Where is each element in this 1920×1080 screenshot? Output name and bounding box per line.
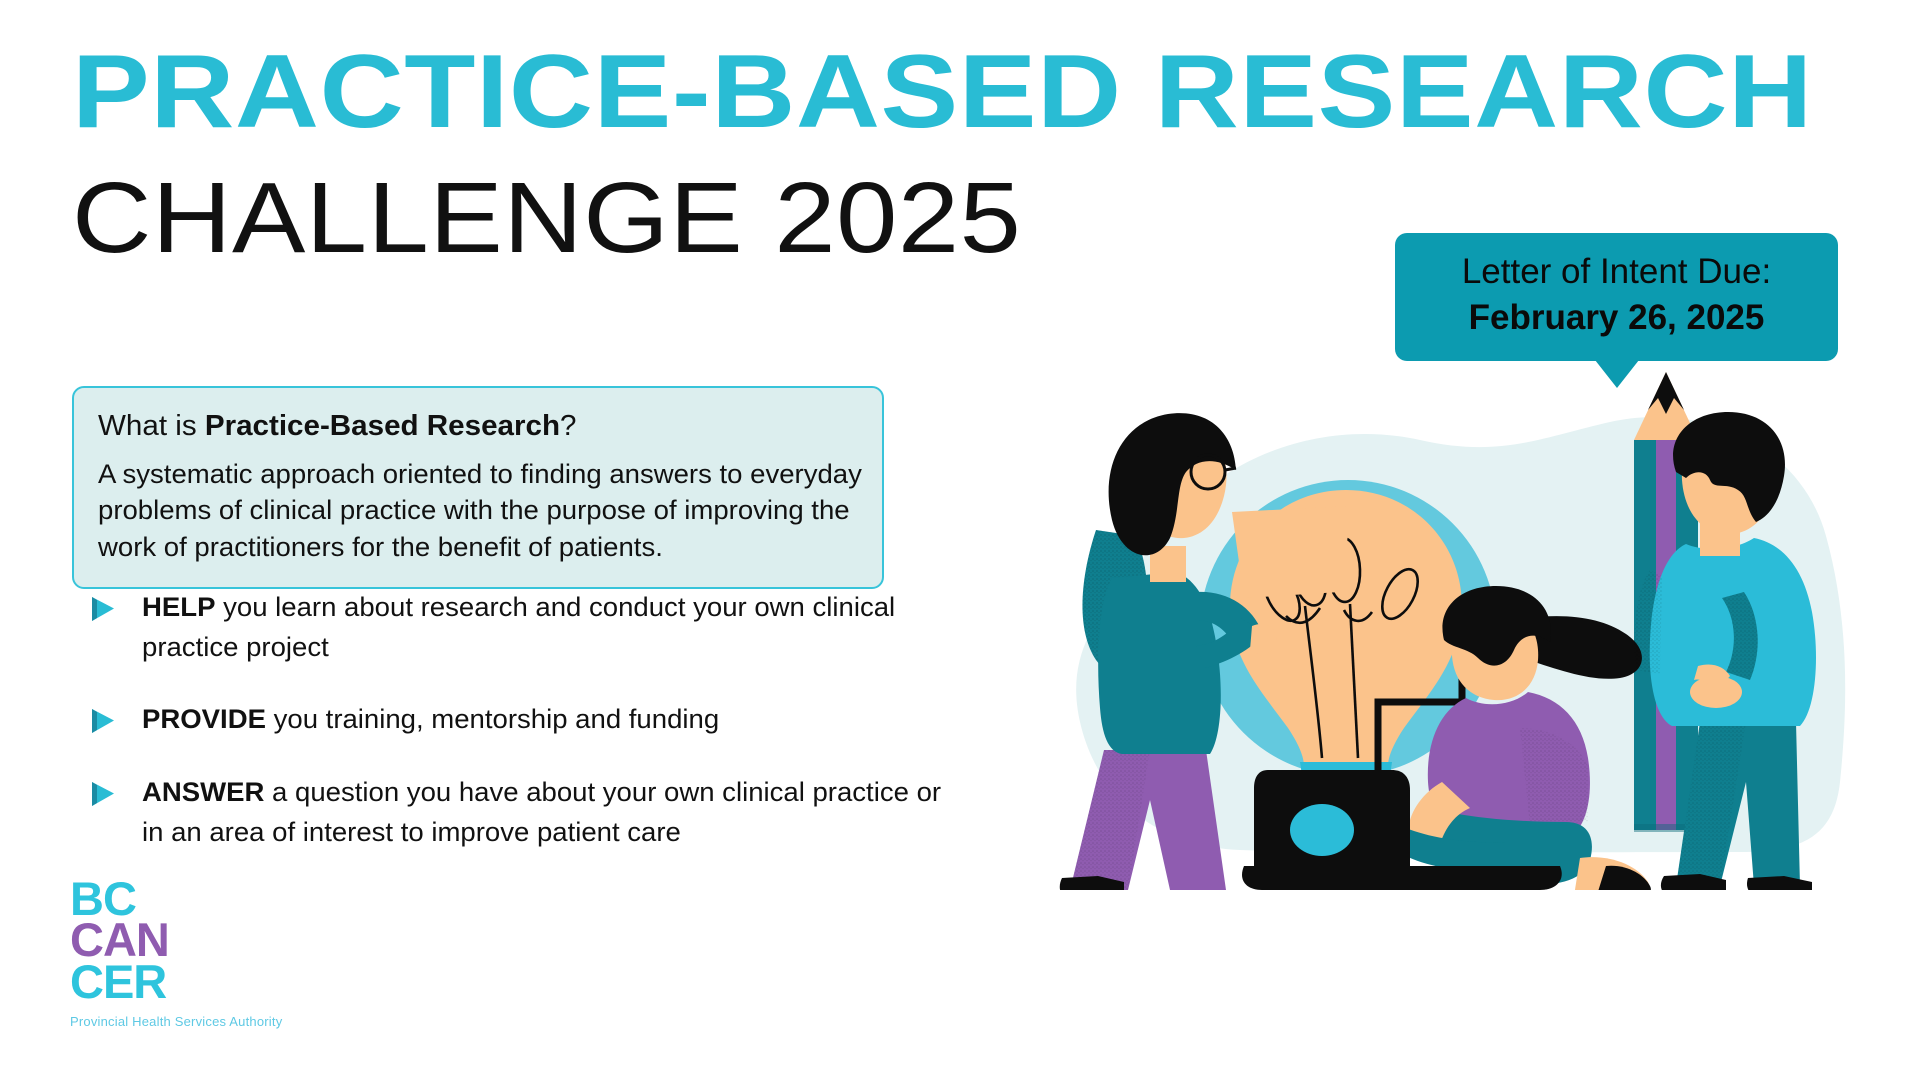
definition-question-suffix: ? [560, 410, 576, 442]
logo-line-cer: CER [70, 961, 310, 1002]
list-item: HELP you learn about research and conduc… [88, 588, 928, 668]
list-item-lead: ANSWER [142, 777, 264, 807]
definition-question-bold: Practice-Based Research [205, 410, 560, 442]
definition-question: What is Practice-Based Research? [98, 408, 873, 444]
list-item-lead: HELP [142, 592, 215, 622]
laptop-logo-dot [1290, 804, 1354, 856]
list-item-text: HELP you learn about research and conduc… [142, 588, 944, 668]
list-item-lead: PROVIDE [142, 704, 266, 734]
triangle-right-icon [88, 779, 118, 814]
bc-cancer-logo: BC CAN CER Provincial Health Services Au… [70, 878, 310, 1029]
list-item-body: you training, mentorship and funding [266, 704, 719, 734]
logo-tagline: Provincial Health Services Authority [70, 1014, 310, 1029]
list-item: PROVIDE you training, mentorship and fun… [88, 700, 928, 741]
deadline-label: Letter of Intent Due: [1405, 251, 1828, 294]
benefits-list: HELP you learn about research and conduc… [88, 588, 928, 885]
list-item-body: you learn about research and conduct you… [142, 592, 895, 662]
triangle-right-icon [88, 706, 118, 741]
list-item: ANSWER a question you have about your ow… [88, 773, 928, 853]
list-item-text: PROVIDE you training, mentorship and fun… [142, 700, 719, 740]
triangle-right-icon [88, 594, 118, 629]
list-item-text: ANSWER a question you have about your ow… [142, 773, 944, 853]
definition-box: What is Practice-Based Research? A syste… [72, 386, 884, 589]
poster-canvas: PRACTICE-BASED RESEARCH CHALLENGE 2025 W… [0, 0, 1920, 1080]
definition-question-prefix: What is [98, 410, 205, 442]
title-line-primary: PRACTICE-BASED RESEARCH [72, 40, 1920, 144]
definition-body: A systematic approach oriented to findin… [98, 456, 873, 565]
team-research-lightbulb-illustration [1000, 330, 1920, 890]
